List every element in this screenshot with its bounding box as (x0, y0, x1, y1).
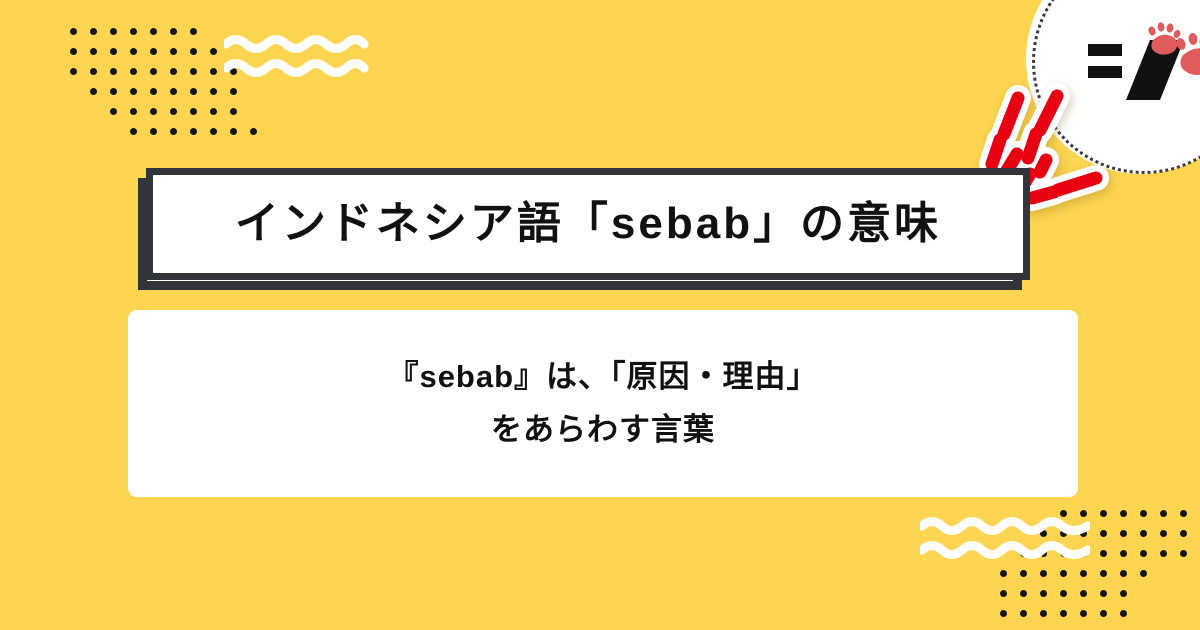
subtitle-text: 『sebab』は、「原因・理由」 をあらわす言葉 (387, 351, 818, 456)
dot-row (130, 128, 270, 148)
dot-row (90, 88, 270, 108)
poster-canvas: インドネシア語「sebab」の意味 『sebab』は、「原因・理由」 をあらわす… (0, 0, 1200, 630)
page-title: インドネシア語「sebab」の意味 (235, 202, 941, 246)
dot-row (1000, 590, 1200, 610)
wavy-lines-top-decoration (224, 32, 384, 85)
dot-row (110, 108, 270, 128)
wavy-lines-bottom-decoration (920, 514, 1090, 567)
title-plaque-face: インドネシア語「sebab」の意味 (146, 168, 1030, 280)
title-plaque: インドネシア語「sebab」の意味 (146, 168, 1030, 280)
paw-print-icon (1175, 33, 1200, 75)
dot-row (1000, 610, 1200, 630)
dot-row (1000, 570, 1200, 590)
subtitle-card: 『sebab』は、「原因・理由」 をあらわす言葉 (128, 310, 1078, 497)
